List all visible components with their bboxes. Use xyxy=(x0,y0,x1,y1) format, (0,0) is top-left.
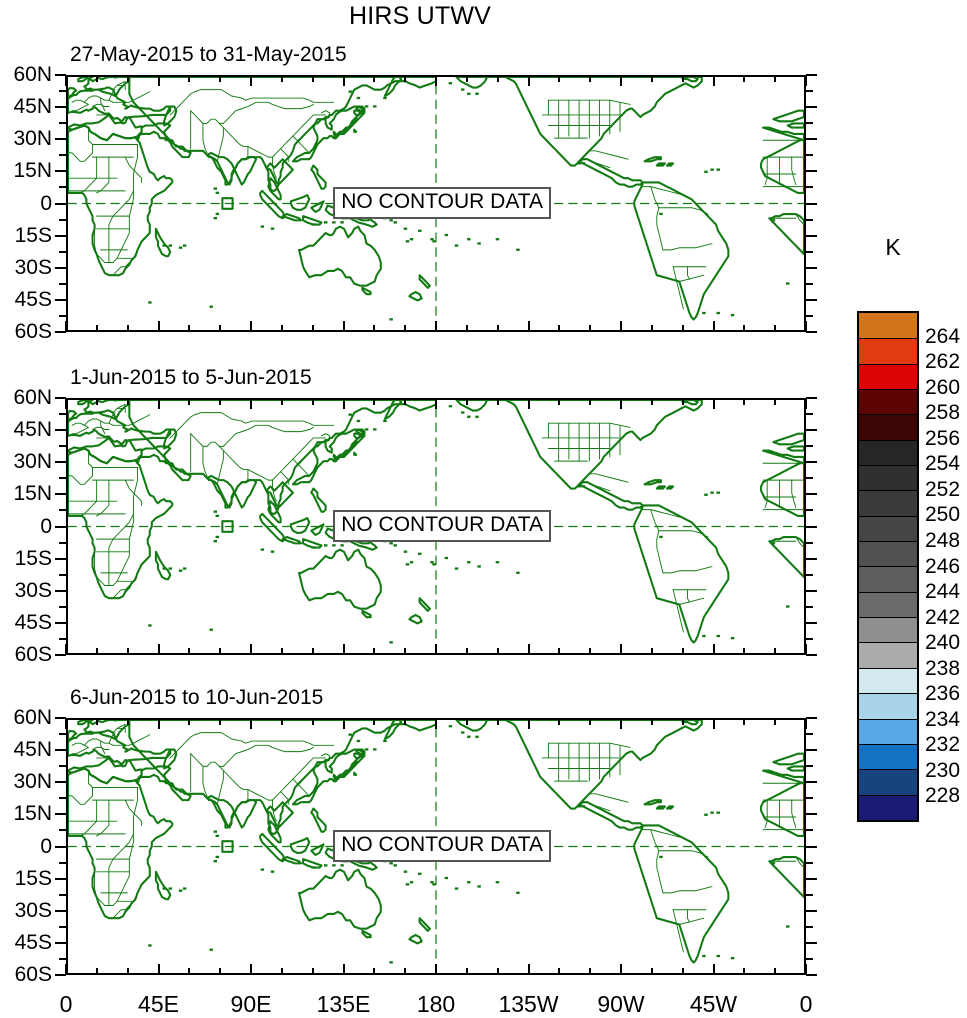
y-axis-minor-tick-right xyxy=(806,765,813,767)
colorbar-tick-label: 264 xyxy=(925,325,960,349)
x-axis-label: 135E xyxy=(317,991,371,1018)
x-axis-minor-tick-top xyxy=(312,718,314,725)
y-axis-label: 60S xyxy=(15,643,52,667)
x-axis-tick xyxy=(620,964,622,975)
y-axis-tick-right xyxy=(806,138,817,140)
y-axis-tick xyxy=(55,170,66,172)
colorbar-band xyxy=(859,668,917,693)
x-axis-minor-tick xyxy=(219,325,221,332)
x-axis-minor-tick xyxy=(219,968,221,975)
y-axis-tick-right xyxy=(806,749,817,751)
y-axis-tick-right xyxy=(806,429,817,431)
x-axis-minor-tick-top xyxy=(188,75,190,82)
colorbar-band xyxy=(859,693,917,718)
x-axis-minor-tick xyxy=(743,968,745,975)
colorbar-tick-label: 260 xyxy=(925,376,960,400)
x-axis-tick xyxy=(343,644,345,655)
colorbar-band xyxy=(859,465,917,490)
y-axis-tick-right xyxy=(806,654,817,656)
y-axis-minor-tick-right xyxy=(806,638,813,640)
x-axis-minor-tick xyxy=(466,648,468,655)
colorbar-tick-label: 240 xyxy=(925,631,960,655)
y-axis-label: 15N xyxy=(13,482,52,506)
colorbar-band xyxy=(859,592,917,617)
x-axis-label: 90W xyxy=(597,991,644,1018)
x-axis-minor-tick xyxy=(497,325,499,332)
x-axis-label: 0 xyxy=(800,991,813,1018)
colorbar-tick-label: 252 xyxy=(925,478,960,502)
map-panel: 1-Jun-2015 to 5-Jun-201560N45N30N15N015S… xyxy=(66,398,806,655)
colorbar-band xyxy=(859,795,917,820)
y-axis-minor-tick xyxy=(59,926,66,928)
y-axis-minor-tick-right xyxy=(806,829,813,831)
x-axis-minor-tick xyxy=(497,968,499,975)
y-axis-minor-tick-right xyxy=(806,733,813,735)
y-axis-minor-tick-right xyxy=(806,154,813,156)
x-axis-label: 90E xyxy=(231,991,272,1018)
y-axis-minor-tick-right xyxy=(806,797,813,799)
x-axis-label: 0 xyxy=(60,991,73,1018)
y-axis-tick xyxy=(55,813,66,815)
no-contour-data-label: NO CONTOUR DATA xyxy=(333,187,551,219)
x-axis-tick xyxy=(250,644,252,655)
y-axis-label: 45N xyxy=(13,418,52,442)
y-axis-tick xyxy=(55,235,66,237)
colorbar-band xyxy=(859,338,917,363)
x-axis-tick-top xyxy=(158,75,160,86)
x-axis-minor-tick-top xyxy=(281,718,283,725)
x-axis-minor-tick-top xyxy=(404,718,406,725)
x-axis-minor-tick xyxy=(558,325,560,332)
y-axis-minor-tick-right xyxy=(806,90,813,92)
x-axis-tick xyxy=(65,644,67,655)
y-axis-minor-tick-right xyxy=(806,606,813,608)
x-axis-minor-tick-top xyxy=(188,398,190,405)
colorbar-band xyxy=(859,440,917,465)
y-axis-tick xyxy=(55,942,66,944)
x-axis-minor-tick xyxy=(96,648,98,655)
x-axis-tick-top xyxy=(343,718,345,729)
y-axis-minor-tick-right xyxy=(806,186,813,188)
x-axis-minor-tick xyxy=(558,648,560,655)
x-axis-minor-tick xyxy=(404,325,406,332)
y-axis-minor-tick xyxy=(59,154,66,156)
x-axis-label: 135W xyxy=(498,991,558,1018)
colorbar-band xyxy=(859,414,917,439)
y-axis-label: 30N xyxy=(13,770,52,794)
y-axis-tick-right xyxy=(806,74,817,76)
y-axis-label: 45S xyxy=(15,288,52,312)
x-axis-minor-tick xyxy=(373,648,375,655)
colorbar-unit-label: K xyxy=(845,234,941,261)
x-axis-minor-tick xyxy=(497,648,499,655)
y-axis-minor-tick xyxy=(59,765,66,767)
x-axis-minor-tick-top xyxy=(651,398,653,405)
x-axis-label: 45W xyxy=(690,991,737,1018)
x-axis-minor-tick-top xyxy=(466,718,468,725)
x-axis-minor-tick xyxy=(558,968,560,975)
colorbar-tick-label: 256 xyxy=(925,427,960,451)
colorbar-tick-label: 258 xyxy=(925,401,960,425)
y-axis-tick-right xyxy=(806,878,817,880)
y-axis-label: 30N xyxy=(13,127,52,151)
y-axis-tick-right xyxy=(806,558,817,560)
y-axis-label: 0 xyxy=(40,192,52,216)
x-axis-minor-tick-top xyxy=(743,75,745,82)
x-axis-minor-tick-top xyxy=(219,75,221,82)
x-axis-minor-tick-top xyxy=(682,398,684,405)
x-axis-minor-tick-top xyxy=(466,398,468,405)
x-axis-minor-tick xyxy=(774,325,776,332)
colorbar-tick-label: 250 xyxy=(925,503,960,527)
x-axis-minor-tick xyxy=(312,325,314,332)
x-axis-tick-top xyxy=(65,718,67,729)
y-axis-minor-tick xyxy=(59,542,66,544)
y-axis-minor-tick xyxy=(59,509,66,511)
y-axis-minor-tick-right xyxy=(806,477,813,479)
x-axis-minor-tick xyxy=(373,968,375,975)
x-axis-minor-tick xyxy=(774,968,776,975)
y-axis-label: 30S xyxy=(15,579,52,603)
y-axis-tick xyxy=(55,558,66,560)
y-axis-minor-tick xyxy=(59,251,66,253)
y-axis-minor-tick xyxy=(59,894,66,896)
x-axis-tick xyxy=(158,321,160,332)
y-axis-tick xyxy=(55,138,66,140)
y-axis-label: 60N xyxy=(13,386,52,410)
x-axis-tick xyxy=(528,644,530,655)
x-axis-minor-tick-top xyxy=(404,75,406,82)
x-axis-minor-tick-top xyxy=(589,398,591,405)
y-axis-tick-right xyxy=(806,203,817,205)
x-axis-minor-tick xyxy=(219,648,221,655)
panel-title: 27-May-2015 to 31-May-2015 xyxy=(70,43,347,67)
x-axis-minor-tick-top xyxy=(188,718,190,725)
x-axis-minor-tick-top xyxy=(651,718,653,725)
x-axis-minor-tick xyxy=(188,968,190,975)
y-axis-tick xyxy=(55,622,66,624)
y-axis-minor-tick xyxy=(59,315,66,317)
y-axis-minor-tick-right xyxy=(806,926,813,928)
y-axis-tick xyxy=(55,299,66,301)
colorbar-tick-label: 234 xyxy=(925,708,960,732)
y-axis-label: 45N xyxy=(13,738,52,762)
y-axis-minor-tick xyxy=(59,186,66,188)
x-axis-tick-top xyxy=(528,718,530,729)
colorbar-tick-label: 242 xyxy=(925,606,960,630)
y-axis-tick-right xyxy=(806,299,817,301)
y-axis-tick-right xyxy=(806,170,817,172)
y-axis-tick-right xyxy=(806,590,817,592)
colorbar-tick-label: 228 xyxy=(925,784,960,808)
y-axis-tick-right xyxy=(806,235,817,237)
x-axis-minor-tick xyxy=(312,968,314,975)
y-axis-minor-tick-right xyxy=(806,219,813,221)
y-axis-tick-right xyxy=(806,622,817,624)
x-axis-tick-top xyxy=(713,398,715,409)
x-axis-minor-tick xyxy=(589,325,591,332)
x-axis-minor-tick xyxy=(651,968,653,975)
x-axis-minor-tick-top xyxy=(127,398,129,405)
x-axis-minor-tick xyxy=(682,325,684,332)
x-axis-tick xyxy=(435,321,437,332)
x-axis-minor-tick-top xyxy=(127,718,129,725)
x-axis-minor-tick-top xyxy=(558,75,560,82)
x-axis-tick xyxy=(528,964,530,975)
y-axis-tick xyxy=(55,590,66,592)
x-axis-minor-tick xyxy=(127,968,129,975)
y-axis-minor-tick xyxy=(59,90,66,92)
x-axis-minor-tick-top xyxy=(312,398,314,405)
x-axis-minor-tick-top xyxy=(497,398,499,405)
y-axis-minor-tick-right xyxy=(806,894,813,896)
map-panel: 27-May-2015 to 31-May-201560N45N30N15N01… xyxy=(66,75,806,332)
x-axis-minor-tick-top xyxy=(466,75,468,82)
x-axis-tick xyxy=(528,321,530,332)
x-axis-tick xyxy=(65,321,67,332)
x-axis-tick xyxy=(805,321,807,332)
colorbar-tick-label: 262 xyxy=(925,350,960,374)
y-axis-label: 60S xyxy=(15,963,52,987)
panel-title: 1-Jun-2015 to 5-Jun-2015 xyxy=(70,366,312,390)
x-axis-minor-tick-top xyxy=(774,75,776,82)
y-axis-minor-tick-right xyxy=(806,542,813,544)
y-axis-label: 60N xyxy=(13,706,52,730)
x-axis-minor-tick-top xyxy=(651,75,653,82)
colorbar-band xyxy=(859,516,917,541)
y-axis-tick-right xyxy=(806,813,817,815)
x-axis-minor-tick xyxy=(589,968,591,975)
x-axis-tick-top xyxy=(250,398,252,409)
y-axis-tick xyxy=(55,846,66,848)
colorbar-tick-label: 244 xyxy=(925,580,960,604)
y-axis-label: 45N xyxy=(13,95,52,119)
y-axis-minor-tick xyxy=(59,829,66,831)
y-axis-minor-tick xyxy=(59,638,66,640)
x-axis-tick xyxy=(158,964,160,975)
y-axis-minor-tick xyxy=(59,122,66,124)
x-axis-tick-top xyxy=(435,398,437,409)
y-axis-tick xyxy=(55,203,66,205)
x-axis-tick xyxy=(250,964,252,975)
x-axis-tick xyxy=(805,964,807,975)
y-axis-tick xyxy=(55,910,66,912)
y-axis-minor-tick xyxy=(59,219,66,221)
x-axis-minor-tick-top xyxy=(127,75,129,82)
x-axis-minor-tick-top xyxy=(404,398,406,405)
y-axis-tick xyxy=(55,781,66,783)
x-axis-tick xyxy=(620,644,622,655)
y-axis-minor-tick-right xyxy=(806,958,813,960)
y-axis-minor-tick-right xyxy=(806,413,813,415)
x-axis-tick xyxy=(343,964,345,975)
x-axis-tick-top xyxy=(805,718,807,729)
x-axis-minor-tick-top xyxy=(96,718,98,725)
x-axis-minor-tick xyxy=(589,648,591,655)
x-axis-minor-tick-top xyxy=(497,75,499,82)
x-axis-minor-tick-top xyxy=(589,75,591,82)
no-contour-data-label: NO CONTOUR DATA xyxy=(333,830,551,862)
panel-title: 6-Jun-2015 to 10-Jun-2015 xyxy=(70,686,323,710)
colorbar-tick-label: 230 xyxy=(925,759,960,783)
colorbar-band xyxy=(859,389,917,414)
x-axis-tick xyxy=(343,321,345,332)
x-axis-tick-top xyxy=(805,75,807,86)
colorbar-tick-label: 248 xyxy=(925,529,960,553)
x-axis-tick-top xyxy=(65,398,67,409)
y-axis-minor-tick-right xyxy=(806,574,813,576)
x-axis-minor-tick-top xyxy=(312,75,314,82)
colorbar-tick-label: 246 xyxy=(925,555,960,579)
colorbar-band xyxy=(859,769,917,794)
y-axis-label: 30S xyxy=(15,256,52,280)
x-axis-tick-top xyxy=(435,718,437,729)
y-axis-tick-right xyxy=(806,106,817,108)
x-axis-minor-tick-top xyxy=(96,398,98,405)
x-axis-minor-tick-top xyxy=(589,718,591,725)
y-axis-label: 30N xyxy=(13,450,52,474)
y-axis-minor-tick xyxy=(59,797,66,799)
x-axis-tick-top xyxy=(158,398,160,409)
y-axis-label: 15S xyxy=(15,547,52,571)
y-axis-tick-right xyxy=(806,397,817,399)
y-axis-minor-tick xyxy=(59,574,66,576)
y-axis-tick xyxy=(55,493,66,495)
x-axis-minor-tick xyxy=(373,325,375,332)
y-axis-tick-right xyxy=(806,781,817,783)
x-axis-tick xyxy=(713,964,715,975)
y-axis-minor-tick-right xyxy=(806,445,813,447)
x-axis-tick-top xyxy=(805,398,807,409)
x-axis-minor-tick xyxy=(404,968,406,975)
x-axis-tick-top xyxy=(620,398,622,409)
colorbar: K 26426226025825625425225024824624424224… xyxy=(845,230,967,840)
x-axis-minor-tick xyxy=(127,648,129,655)
y-axis-minor-tick-right xyxy=(806,251,813,253)
x-axis-tick xyxy=(620,321,622,332)
x-axis-minor-tick-top xyxy=(743,718,745,725)
colorbar-tick-label: 236 xyxy=(925,682,960,706)
y-axis-minor-tick xyxy=(59,606,66,608)
x-axis-minor-tick xyxy=(281,648,283,655)
x-axis-tick xyxy=(713,321,715,332)
y-axis-minor-tick xyxy=(59,445,66,447)
x-axis-tick-top xyxy=(528,75,530,86)
x-axis-minor-tick xyxy=(404,648,406,655)
y-axis-tick xyxy=(55,106,66,108)
y-axis-tick-right xyxy=(806,526,817,528)
y-axis-label: 15N xyxy=(13,159,52,183)
y-axis-tick-right xyxy=(806,493,817,495)
y-axis-tick-right xyxy=(806,331,817,333)
x-axis-tick-top xyxy=(158,718,160,729)
x-axis-tick-top xyxy=(713,718,715,729)
x-axis-minor-tick xyxy=(651,648,653,655)
x-axis-tick-top xyxy=(620,718,622,729)
x-axis-minor-tick-top xyxy=(774,398,776,405)
x-axis-tick-top xyxy=(528,398,530,409)
y-axis-minor-tick-right xyxy=(806,315,813,317)
x-axis-minor-tick xyxy=(281,968,283,975)
x-axis-label: 45E xyxy=(138,991,179,1018)
x-axis-minor-tick xyxy=(774,648,776,655)
x-axis-tick xyxy=(65,964,67,975)
y-axis-label: 30S xyxy=(15,899,52,923)
y-axis-label: 15S xyxy=(15,224,52,248)
colorbar-band xyxy=(859,541,917,566)
x-axis-minor-tick-top xyxy=(281,75,283,82)
x-axis-minor-tick xyxy=(96,325,98,332)
y-axis-minor-tick xyxy=(59,862,66,864)
y-axis-tick-right xyxy=(806,461,817,463)
y-axis-tick xyxy=(55,526,66,528)
y-axis-tick xyxy=(55,461,66,463)
x-axis-minor-tick xyxy=(127,325,129,332)
x-axis-tick xyxy=(805,644,807,655)
x-axis-tick xyxy=(435,644,437,655)
y-axis-tick xyxy=(55,878,66,880)
map-panel: 6-Jun-2015 to 10-Jun-201560N45N30N15N015… xyxy=(66,718,806,975)
x-axis-minor-tick xyxy=(651,325,653,332)
y-axis-label: 45S xyxy=(15,611,52,635)
x-axis-minor-tick-top xyxy=(281,398,283,405)
y-axis-label: 15S xyxy=(15,867,52,891)
y-axis-minor-tick xyxy=(59,413,66,415)
y-axis-label: 60S xyxy=(15,320,52,344)
colorbar-band xyxy=(859,719,917,744)
x-axis-minor-tick xyxy=(96,968,98,975)
y-axis-label: 0 xyxy=(40,835,52,859)
colorbar-gradient xyxy=(857,311,919,822)
x-axis-minor-tick-top xyxy=(219,398,221,405)
x-axis-minor-tick xyxy=(188,648,190,655)
x-axis-tick-top xyxy=(250,75,252,86)
y-axis-tick-right xyxy=(806,267,817,269)
x-axis-minor-tick-top xyxy=(682,718,684,725)
y-axis-tick xyxy=(55,429,66,431)
y-axis-label: 0 xyxy=(40,515,52,539)
x-axis-minor-tick xyxy=(466,325,468,332)
y-axis-label: 45S xyxy=(15,931,52,955)
x-axis-minor-tick xyxy=(743,648,745,655)
x-axis-minor-tick-top xyxy=(96,75,98,82)
x-axis-minor-tick-top xyxy=(373,398,375,405)
colorbar-band xyxy=(859,617,917,642)
y-axis-tick-right xyxy=(806,846,817,848)
x-axis-minor-tick-top xyxy=(558,398,560,405)
colorbar-band xyxy=(859,490,917,515)
x-axis-minor-tick xyxy=(682,968,684,975)
y-axis-label: 15N xyxy=(13,802,52,826)
y-axis-minor-tick-right xyxy=(806,862,813,864)
x-axis-minor-tick xyxy=(743,325,745,332)
no-contour-data-label: NO CONTOUR DATA xyxy=(333,510,551,542)
colorbar-band xyxy=(859,313,917,338)
x-axis-minor-tick xyxy=(281,325,283,332)
colorbar-tick-labels: 2642622602582562542522502482462442422402… xyxy=(925,311,967,822)
x-axis-minor-tick xyxy=(312,648,314,655)
x-axis-tick-top xyxy=(435,75,437,86)
x-axis-label: 180 xyxy=(417,991,455,1018)
x-axis-tick xyxy=(158,644,160,655)
x-axis-minor-tick-top xyxy=(682,75,684,82)
x-axis-minor-tick-top xyxy=(219,718,221,725)
x-axis-minor-tick xyxy=(466,968,468,975)
x-axis-minor-tick-top xyxy=(373,75,375,82)
y-axis-minor-tick-right xyxy=(806,509,813,511)
y-axis-tick-right xyxy=(806,717,817,719)
y-axis-tick-right xyxy=(806,910,817,912)
